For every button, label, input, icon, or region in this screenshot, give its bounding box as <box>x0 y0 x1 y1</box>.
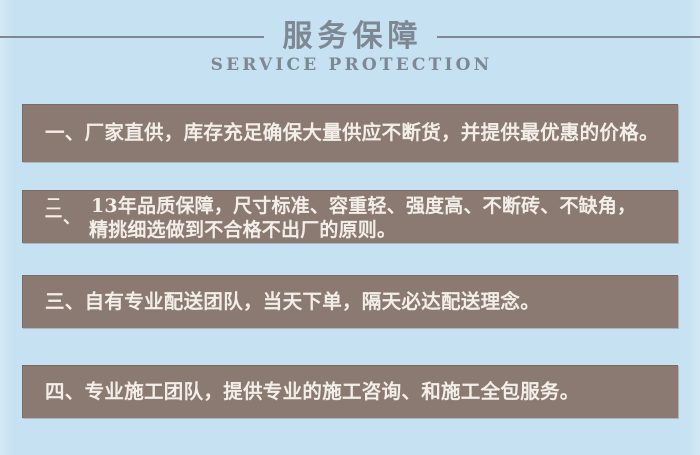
band-3-inner: 三、自有专业配送团队，当天下单，隔天必达配送理念。 <box>23 288 678 316</box>
title-row: 服务保障 <box>0 14 700 60</box>
page-title: 服务保障 <box>278 22 423 52</box>
page-subtitle: SERVICE PROTECTION <box>0 57 700 74</box>
service-band-2: 二 一、 13年品质保障，尺寸标准、容重轻、强度高、不断砖、不缺角， 精挑细选做… <box>22 190 678 243</box>
title-rule-right <box>437 36 700 38</box>
title-rule-left <box>0 36 264 38</box>
service-band-3: 三、自有专业配送团队，当天下单，隔天必达配送理念。 <box>22 275 678 328</box>
band-1-inner: 一、厂家直供，库存充足确保大量供应不断货，并提供最优惠的价格。 <box>23 119 678 147</box>
band-2-marker-bottom: 一、 <box>45 210 81 227</box>
band-4-text: 四、专业施工团队，提供专业的施工咨询、和施工全包服务。 <box>45 378 580 406</box>
band-2-inner: 二 一、 13年品质保障，尺寸标准、容重轻、强度高、不断砖、不缺角， 精挑细选做… <box>23 191 678 243</box>
band-4-inner: 四、专业施工团队，提供专业的施工咨询、和施工全包服务。 <box>23 378 678 406</box>
band-2-text-line-1: 13年品质保障，尺寸标准、容重轻、强度高、不断砖、不缺角， <box>89 194 636 218</box>
service-band-4: 四、专业施工团队，提供专业的施工咨询、和施工全包服务。 <box>22 365 678 418</box>
service-protection-poster: 服务保障 SERVICE PROTECTION 一、厂家直供，库存充足确保大量供… <box>0 0 700 455</box>
band-2-text-line-2: 精挑细选做到不合格不出厂的原则。 <box>89 218 636 242</box>
band-1-text: 一、厂家直供，库存充足确保大量供应不断货，并提供最优惠的价格。 <box>45 119 659 147</box>
band-3-text: 三、自有专业配送团队，当天下单，隔天必达配送理念。 <box>45 288 540 316</box>
band-2-marker: 二 一、 <box>45 194 89 242</box>
service-band-1: 一、厂家直供，库存充足确保大量供应不断货，并提供最优惠的价格。 <box>22 104 678 162</box>
band-2-lines: 13年品质保障，尺寸标准、容重轻、强度高、不断砖、不缺角， 精挑细选做到不合格不… <box>89 194 636 243</box>
poster-header: 服务保障 SERVICE PROTECTION <box>0 0 700 92</box>
